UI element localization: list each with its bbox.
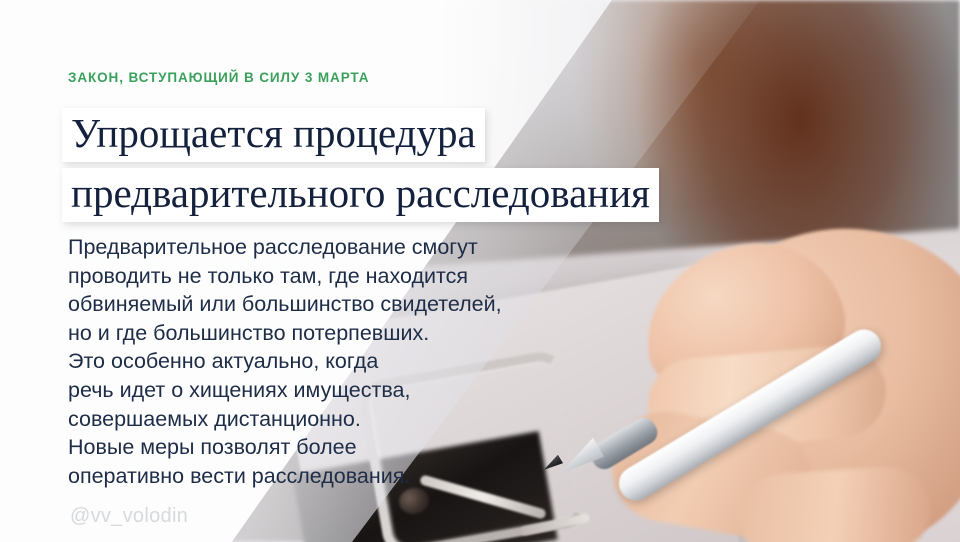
headline: Упрощается процедура предварительного ра… <box>62 108 659 222</box>
headline-line-1: Упрощается процедура <box>62 108 485 162</box>
body-paragraph: Предварительное расследование смогут про… <box>68 233 538 490</box>
headline-line-2: предварительного расследования <box>62 168 659 222</box>
author-handle: @vv_volodin <box>70 505 188 528</box>
card-content: ЗАКОН, ВСТУПАЮЩИЙ В СИЛУ 3 МАРТА Упрощае… <box>0 0 960 542</box>
kicker-label: ЗАКОН, ВСТУПАЮЩИЙ В СИЛУ 3 МАРТА <box>68 70 369 85</box>
infographic-card: ЗАКОН, ВСТУПАЮЩИЙ В СИЛУ 3 МАРТА Упрощае… <box>0 0 960 542</box>
